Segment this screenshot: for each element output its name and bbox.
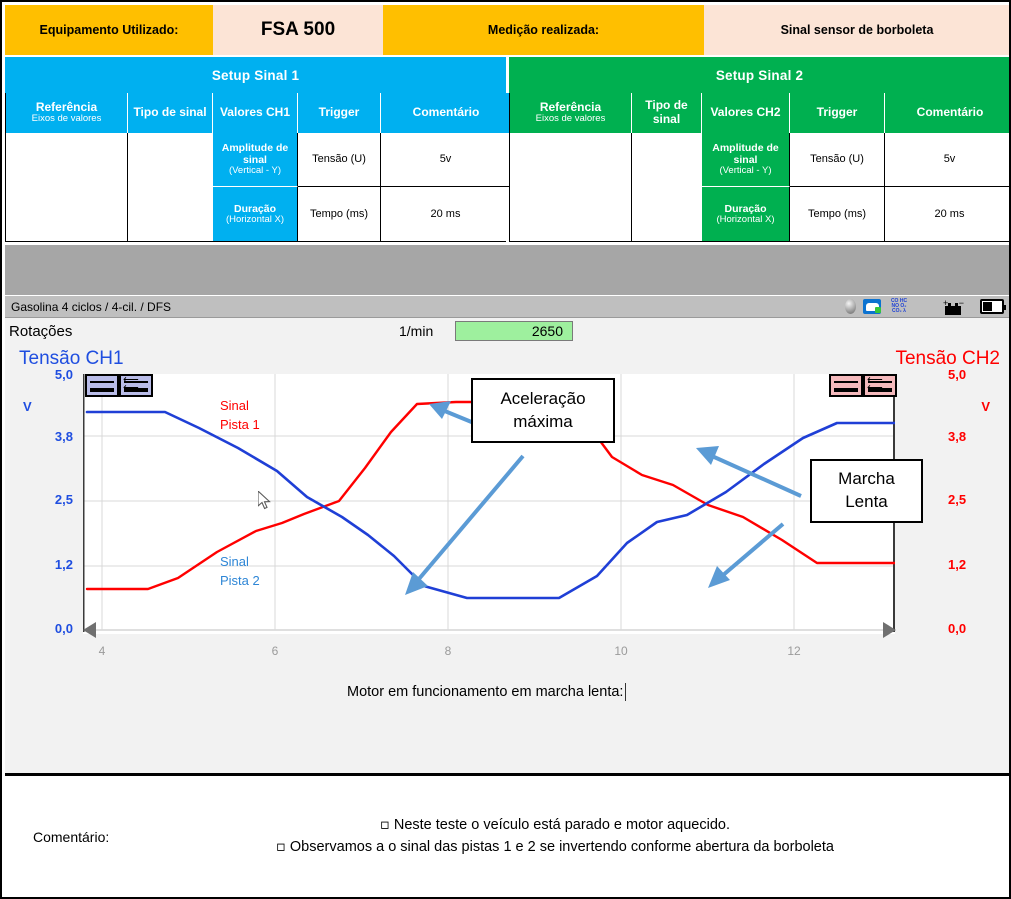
setup1-comentario-cell[interactable]: [128, 133, 213, 241]
xtick-4: 12: [787, 644, 800, 658]
setup2-col-trigger: Trigger: [790, 93, 885, 133]
setup1-trigger-cell[interactable]: [6, 133, 128, 241]
setup2-col-referencia-sub: Eixos de valores: [536, 114, 606, 125]
setup2-trigger-cell[interactable]: [510, 133, 632, 241]
comment-line-1: ▫ Neste teste o veículo está parado e mo…: [180, 815, 930, 837]
scroll-left-arrow-icon[interactable]: [83, 622, 96, 638]
setup1-row2-tipo: Tempo (ms): [298, 187, 381, 241]
rpm-value: 2650: [455, 321, 573, 341]
annotation-arrowhead-idle-down: [708, 566, 730, 588]
setup1-row1-tipo: Tensão (U): [298, 133, 381, 187]
setup1-col-tipo: Tipo de sinal: [128, 93, 213, 133]
setup-tables: Setup Sinal 1 Referência Eixos de valore…: [5, 57, 1010, 242]
comment-line-2: ▫ Observamos a o sinal das pistas 1 e 2 …: [180, 837, 930, 859]
ytick-left-4: 0,0: [41, 621, 73, 636]
setup1-col-referencia-sub: Eixos de valores: [32, 114, 102, 125]
scroll-right-arrow-icon[interactable]: [883, 622, 896, 638]
sphere-icon[interactable]: [845, 299, 856, 314]
ch2-cursor-controls[interactable]: ⟵⟵: [829, 374, 897, 397]
setup2-col-valores: Valores CH2: [702, 93, 790, 133]
setup-2-grid: Referência Eixos de valores Tipo de sina…: [509, 93, 1010, 242]
ytick-right-0: 5,0: [948, 367, 980, 382]
comment-text: ▫ Neste teste o veículo está parado e mo…: [180, 815, 1010, 859]
xtick-1: 6: [272, 644, 279, 658]
xtick-2: 8: [445, 644, 452, 658]
mouse-cursor-icon: [258, 491, 272, 511]
setup-2-title: Setup Sinal 2: [509, 57, 1010, 93]
setup-1-grid: Referência Eixos de valores Tipo de sina…: [5, 93, 506, 242]
comment-label: Comentário:: [5, 829, 180, 845]
ytick-right-4: 0,0: [948, 621, 980, 636]
annotation-arrow-idle-down: [715, 524, 783, 582]
setup1-col-valores: Valores CH1: [213, 93, 298, 133]
left-axis-unit: V: [23, 399, 32, 414]
equipment-label: Equipamento Utilizado:: [5, 5, 213, 55]
equipment-value: FSA 500: [213, 5, 383, 55]
setup1-col-referencia: Referência Eixos de valores: [6, 93, 128, 133]
comment-area: Comentário: ▫ Neste teste o veículo está…: [5, 779, 1010, 895]
ch2-lines-icon[interactable]: [829, 374, 863, 397]
ytick-left-0: 5,0: [41, 367, 73, 382]
grey-separator-band: [5, 245, 1010, 295]
series-label-pista-1: Sinal Pista 1: [220, 397, 260, 435]
setup2-col-comentario: Comentário: [885, 93, 1011, 133]
ytick-right-1: 3,8: [948, 429, 980, 444]
ch1-cursor-controls[interactable]: ⟵⟵: [85, 374, 153, 397]
setup1-row1-ref: Amplitude de sinal (Vertical - Y): [213, 133, 298, 187]
ch1-lines-icon[interactable]: [85, 374, 119, 397]
setup-signal-1-table: Setup Sinal 1 Referência Eixos de valore…: [5, 57, 506, 242]
callout-aceleracao-maxima: Aceleração máxima: [471, 378, 615, 443]
series-label-pista-2: Sinal Pista 2: [220, 553, 260, 591]
ytick-left-2: 2,5: [41, 492, 73, 507]
setup1-row1-valor: 5v: [381, 133, 511, 187]
ch1-arrows-left-icon[interactable]: ⟵⟵: [119, 374, 153, 397]
measurement-label: Medição realizada:: [383, 5, 704, 55]
vehicle-connect-icon[interactable]: [863, 299, 881, 314]
setup2-row2-tipo: Tempo (ms): [790, 187, 885, 241]
setup2-row1-ref: Amplitude de sinal (Vertical - Y): [702, 133, 790, 187]
rpm-unit: 1/min: [399, 323, 455, 339]
ytick-left-1: 3,8: [41, 429, 73, 444]
oscilloscope-panel: Gasolina 4 ciclos / 4-cil. / DFS CO HC N…: [5, 296, 1010, 676]
annotation-arrowhead-accel-down: [405, 572, 428, 595]
caption-text[interactable]: Motor em funcionamento em marcha lenta:: [345, 683, 626, 701]
gas-analysis-icon[interactable]: CO HC NO O₂ CO₂ λ: [888, 299, 910, 315]
setup1-row2-valor: 20 ms: [381, 187, 511, 241]
setup2-row2-valor: 20 ms: [885, 187, 1011, 241]
ytick-right-2: 2,5: [948, 492, 980, 507]
document-header: Equipamento Utilizado: FSA 500 Medição r…: [5, 5, 1010, 55]
caption-area: Motor em funcionamento em marcha lenta:: [5, 676, 1010, 776]
ytick-left-3: 1,2: [41, 557, 73, 572]
right-axis-unit: V: [981, 399, 990, 414]
setup2-col-referencia-label: Referência: [540, 101, 601, 115]
setup2-col-tipo: Tipo de sinal: [632, 93, 702, 133]
setup2-row1-valor: 5v: [885, 133, 1011, 187]
scope-breadcrumb: Gasolina 4 ciclos / 4-cil. / DFS: [11, 300, 171, 314]
ytick-right-3: 1,2: [948, 557, 980, 572]
setup2-row2-ref: Duração (Horizontal X): [702, 187, 790, 241]
battery-terminal-icon[interactable]: +−: [940, 299, 966, 315]
ch2-arrows-left-icon[interactable]: ⟵⟵: [863, 374, 897, 397]
rpm-row: Rotações 1/min 2650: [5, 318, 1010, 344]
setup1-col-comentario: Comentário: [381, 93, 511, 133]
setup-1-title: Setup Sinal 1: [5, 57, 506, 93]
callout-marcha-lenta: Marcha Lenta: [810, 459, 923, 523]
battery-level-icon[interactable]: [980, 299, 1004, 314]
xtick-0: 4: [99, 644, 106, 658]
xtick-3: 10: [614, 644, 627, 658]
setup-signal-2-table: Setup Sinal 2 Referência Eixos de valore…: [509, 57, 1010, 242]
setup1-row2-ref: Duração (Horizontal X): [213, 187, 298, 241]
report-page: Equipamento Utilizado: FSA 500 Medição r…: [0, 0, 1011, 899]
setup1-col-trigger: Trigger: [298, 93, 381, 133]
annotation-arrow-idle-up: [703, 452, 801, 496]
scope-titlebar: Gasolina 4 ciclos / 4-cil. / DFS CO HC N…: [5, 296, 1010, 318]
setup2-comentario-cell[interactable]: [632, 133, 702, 241]
measurement-value: Sinal sensor de borboleta: [704, 5, 1010, 55]
rpm-label: Rotações: [9, 323, 399, 340]
setup2-row1-tipo: Tensão (U): [790, 133, 885, 187]
setup1-col-referencia-label: Referência: [36, 101, 97, 115]
setup2-col-referencia: Referência Eixos de valores: [510, 93, 632, 133]
